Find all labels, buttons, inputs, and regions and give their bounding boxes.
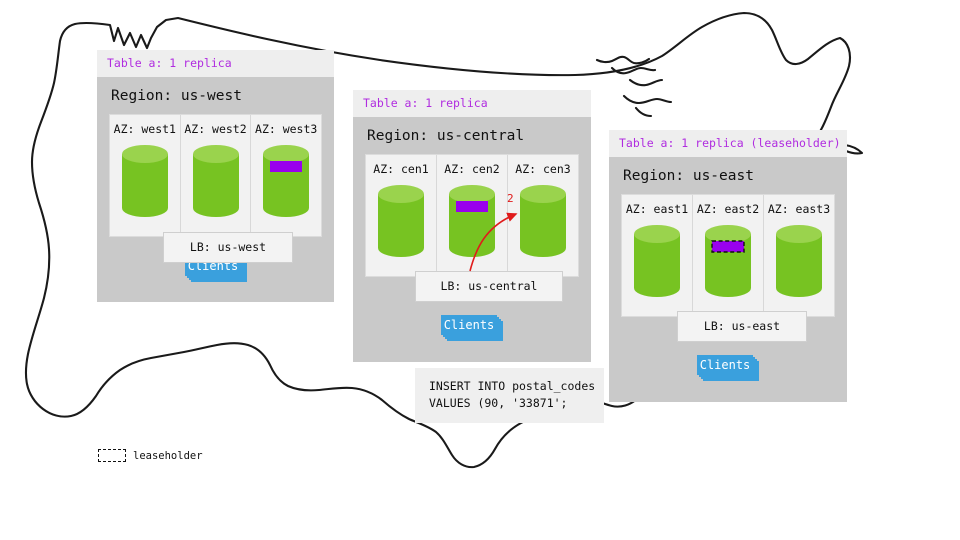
region-title-us-central: Region: us-central	[353, 117, 591, 154]
replica-cylinder-east3	[764, 216, 834, 306]
az-cell-cen2[interactable]: AZ: cen2	[437, 155, 508, 276]
replica-cylinder-east1	[622, 216, 692, 306]
legend: leaseholder	[98, 449, 203, 462]
az-cell-west2[interactable]: AZ: west2	[181, 115, 252, 236]
az-label-west2: AZ: west2	[181, 122, 251, 136]
region-header-us-central: Table a: 1 replica	[353, 90, 591, 117]
replica-marker-east2	[712, 241, 744, 252]
az-label-east3: AZ: east3	[764, 202, 834, 216]
az-cell-cen1[interactable]: AZ: cen1	[366, 155, 437, 276]
replica-cylinder-east2	[693, 216, 763, 306]
az-strip-us-west: AZ: west1 AZ: west2	[109, 114, 322, 237]
az-label-cen3: AZ: cen3	[508, 162, 578, 176]
az-strip-us-central: AZ: cen1 AZ: cen2	[365, 154, 579, 277]
replica-cylinder-west2	[181, 136, 251, 226]
region-header-us-east: Table a: 1 replica (leaseholder)	[609, 130, 847, 157]
region-title-us-west: Region: us-west	[97, 77, 334, 114]
az-label-west1: AZ: west1	[110, 122, 180, 136]
clients-button-us-east[interactable]: Clients	[697, 355, 753, 375]
clients-stack-us-east[interactable]: Clients	[697, 355, 759, 381]
replica-marker-west3	[270, 161, 302, 172]
replica-cylinder-cen2	[437, 176, 507, 266]
az-cell-east2[interactable]: AZ: east2	[693, 195, 764, 316]
az-label-west3: AZ: west3	[251, 122, 321, 136]
az-strip-us-east: AZ: east1 AZ: east2	[621, 194, 835, 317]
az-label-east1: AZ: east1	[622, 202, 692, 216]
leaseholder-swatch-icon	[98, 449, 126, 462]
az-label-cen2: AZ: cen2	[437, 162, 507, 176]
replica-cylinder-cen1	[366, 176, 436, 266]
az-cell-west3[interactable]: AZ: west3	[251, 115, 321, 236]
load-balancer-us-central[interactable]: LB: us-central	[415, 271, 563, 302]
load-balancer-us-west[interactable]: LB: us-west	[163, 232, 293, 263]
region-panel-us-east: Table a: 1 replica (leaseholder) Region:…	[609, 130, 847, 402]
clients-stack-us-central[interactable]: Clients	[441, 315, 503, 341]
az-cell-cen3[interactable]: AZ: cen3	[508, 155, 578, 276]
replica-cylinder-west1	[110, 136, 180, 226]
legend-label: leaseholder	[133, 450, 203, 462]
az-label-cen1: AZ: cen1	[366, 162, 436, 176]
az-label-east2: AZ: east2	[693, 202, 763, 216]
clients-button-us-central[interactable]: Clients	[441, 315, 497, 335]
replica-cylinder-west3	[251, 136, 321, 226]
az-cell-west1[interactable]: AZ: west1	[110, 115, 181, 236]
region-panel-us-central: Table a: 1 replica Region: us-central AZ…	[353, 90, 591, 362]
diagram-canvas: Table a: 1 replica Region: us-west AZ: w…	[0, 0, 960, 540]
az-cell-east3[interactable]: AZ: east3	[764, 195, 834, 316]
az-cell-east1[interactable]: AZ: east1	[622, 195, 693, 316]
region-header-us-west: Table a: 1 replica	[97, 50, 334, 77]
load-balancer-us-east[interactable]: LB: us-east	[677, 311, 807, 342]
region-panel-us-west: Table a: 1 replica Region: us-west AZ: w…	[97, 50, 334, 302]
sql-statement-panel: INSERT INTO postal_codes VALUES (90, '33…	[415, 368, 604, 423]
replica-cylinder-cen3	[508, 176, 578, 266]
region-title-us-east: Region: us-east	[609, 157, 847, 194]
replication-arrow-label: 2	[507, 192, 514, 205]
replica-marker-cen2	[456, 201, 488, 212]
